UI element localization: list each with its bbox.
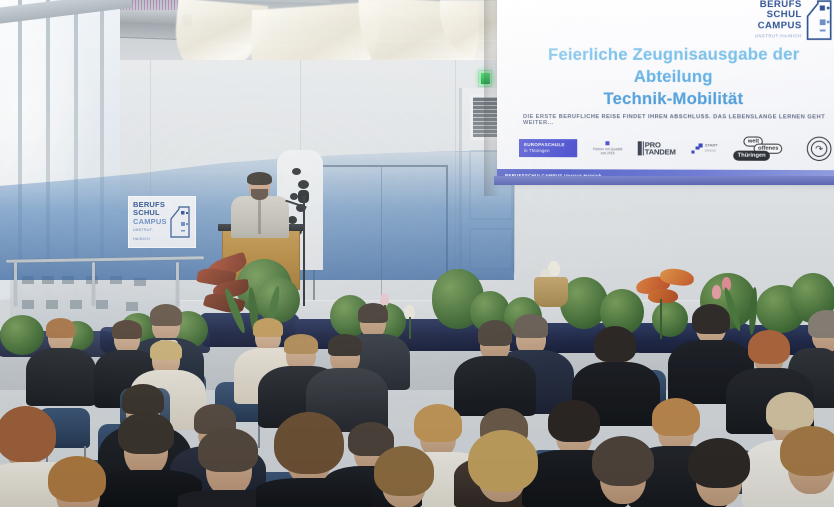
wall-sign-line3: CAMPUS <box>133 218 167 227</box>
welt-line3: Thüringen <box>734 151 770 162</box>
wall-sign-berufsschulcampus: BERUFS SCHUL CAMPUS UNSTRUT-HAINICH <box>128 196 196 248</box>
berufsschulcampus-building-mark <box>169 205 191 239</box>
audience <box>0 300 834 507</box>
slide-title-line2: Technik-Mobilität <box>509 88 834 110</box>
berufsschulcampus-building-mark <box>805 0 834 40</box>
pro-tandem-bars-icon <box>638 141 644 155</box>
sponsor-europaschule-line2: in Thüringen <box>524 148 565 154</box>
auditorium-photo: BERUFS SCHUL CAMPUS UNSTRUT-HAINICH <box>0 0 834 507</box>
partner-square-icon <box>606 141 610 145</box>
screen-bottom-frame <box>494 176 834 185</box>
slide-logo-line3: CAMPUS <box>755 20 802 31</box>
sponsor-logo-row: EUROPASCHULE in Thüringen Partner mit Qu… <box>519 132 831 165</box>
slide-logo-berufsschulcampus: BERUFS SCHUL CAMPUS UNSTRUT-HAINICH <box>739 0 833 42</box>
refresh-circle-icon <box>807 137 832 161</box>
slide-logo-subline: UNSTRUT-HAINICH <box>755 31 802 42</box>
projection-screen: BERUFS SCHUL CAMPUS UNSTRUT-HAINICH <box>497 0 834 183</box>
sponsor-start-line2: DANCIN <box>705 149 718 154</box>
sponsor-europaschule: EUROPASCHULE in Thüringen <box>519 139 577 156</box>
wall-sign-subline: UNSTRUT-HAINICH <box>133 226 167 243</box>
sponsor-partner-line2: seit 2018 <box>593 151 622 156</box>
slide-title: Feierliche Zeugnisausgabe der Abteilung … <box>509 43 834 110</box>
slide-subtitle: DIE ERSTE BERUFLICHE REISE FINDET IHREN … <box>523 114 831 127</box>
slide-title-line1: Feierliche Zeugnisausgabe der Abteilung <box>509 43 834 88</box>
sponsor-weltoffenes-thueringen: welt offenes Thüringen <box>734 136 791 160</box>
sponsor-protandem-line2: TANDEM <box>645 148 676 156</box>
sponsor-partner: Partner mit Qualität seit 2018 <box>593 141 622 156</box>
sponsor-pro-tandem: PRO TANDEM <box>638 141 676 156</box>
start-dots-icon <box>692 143 703 154</box>
sponsor-start-dancin: START DANCIN <box>692 143 718 154</box>
